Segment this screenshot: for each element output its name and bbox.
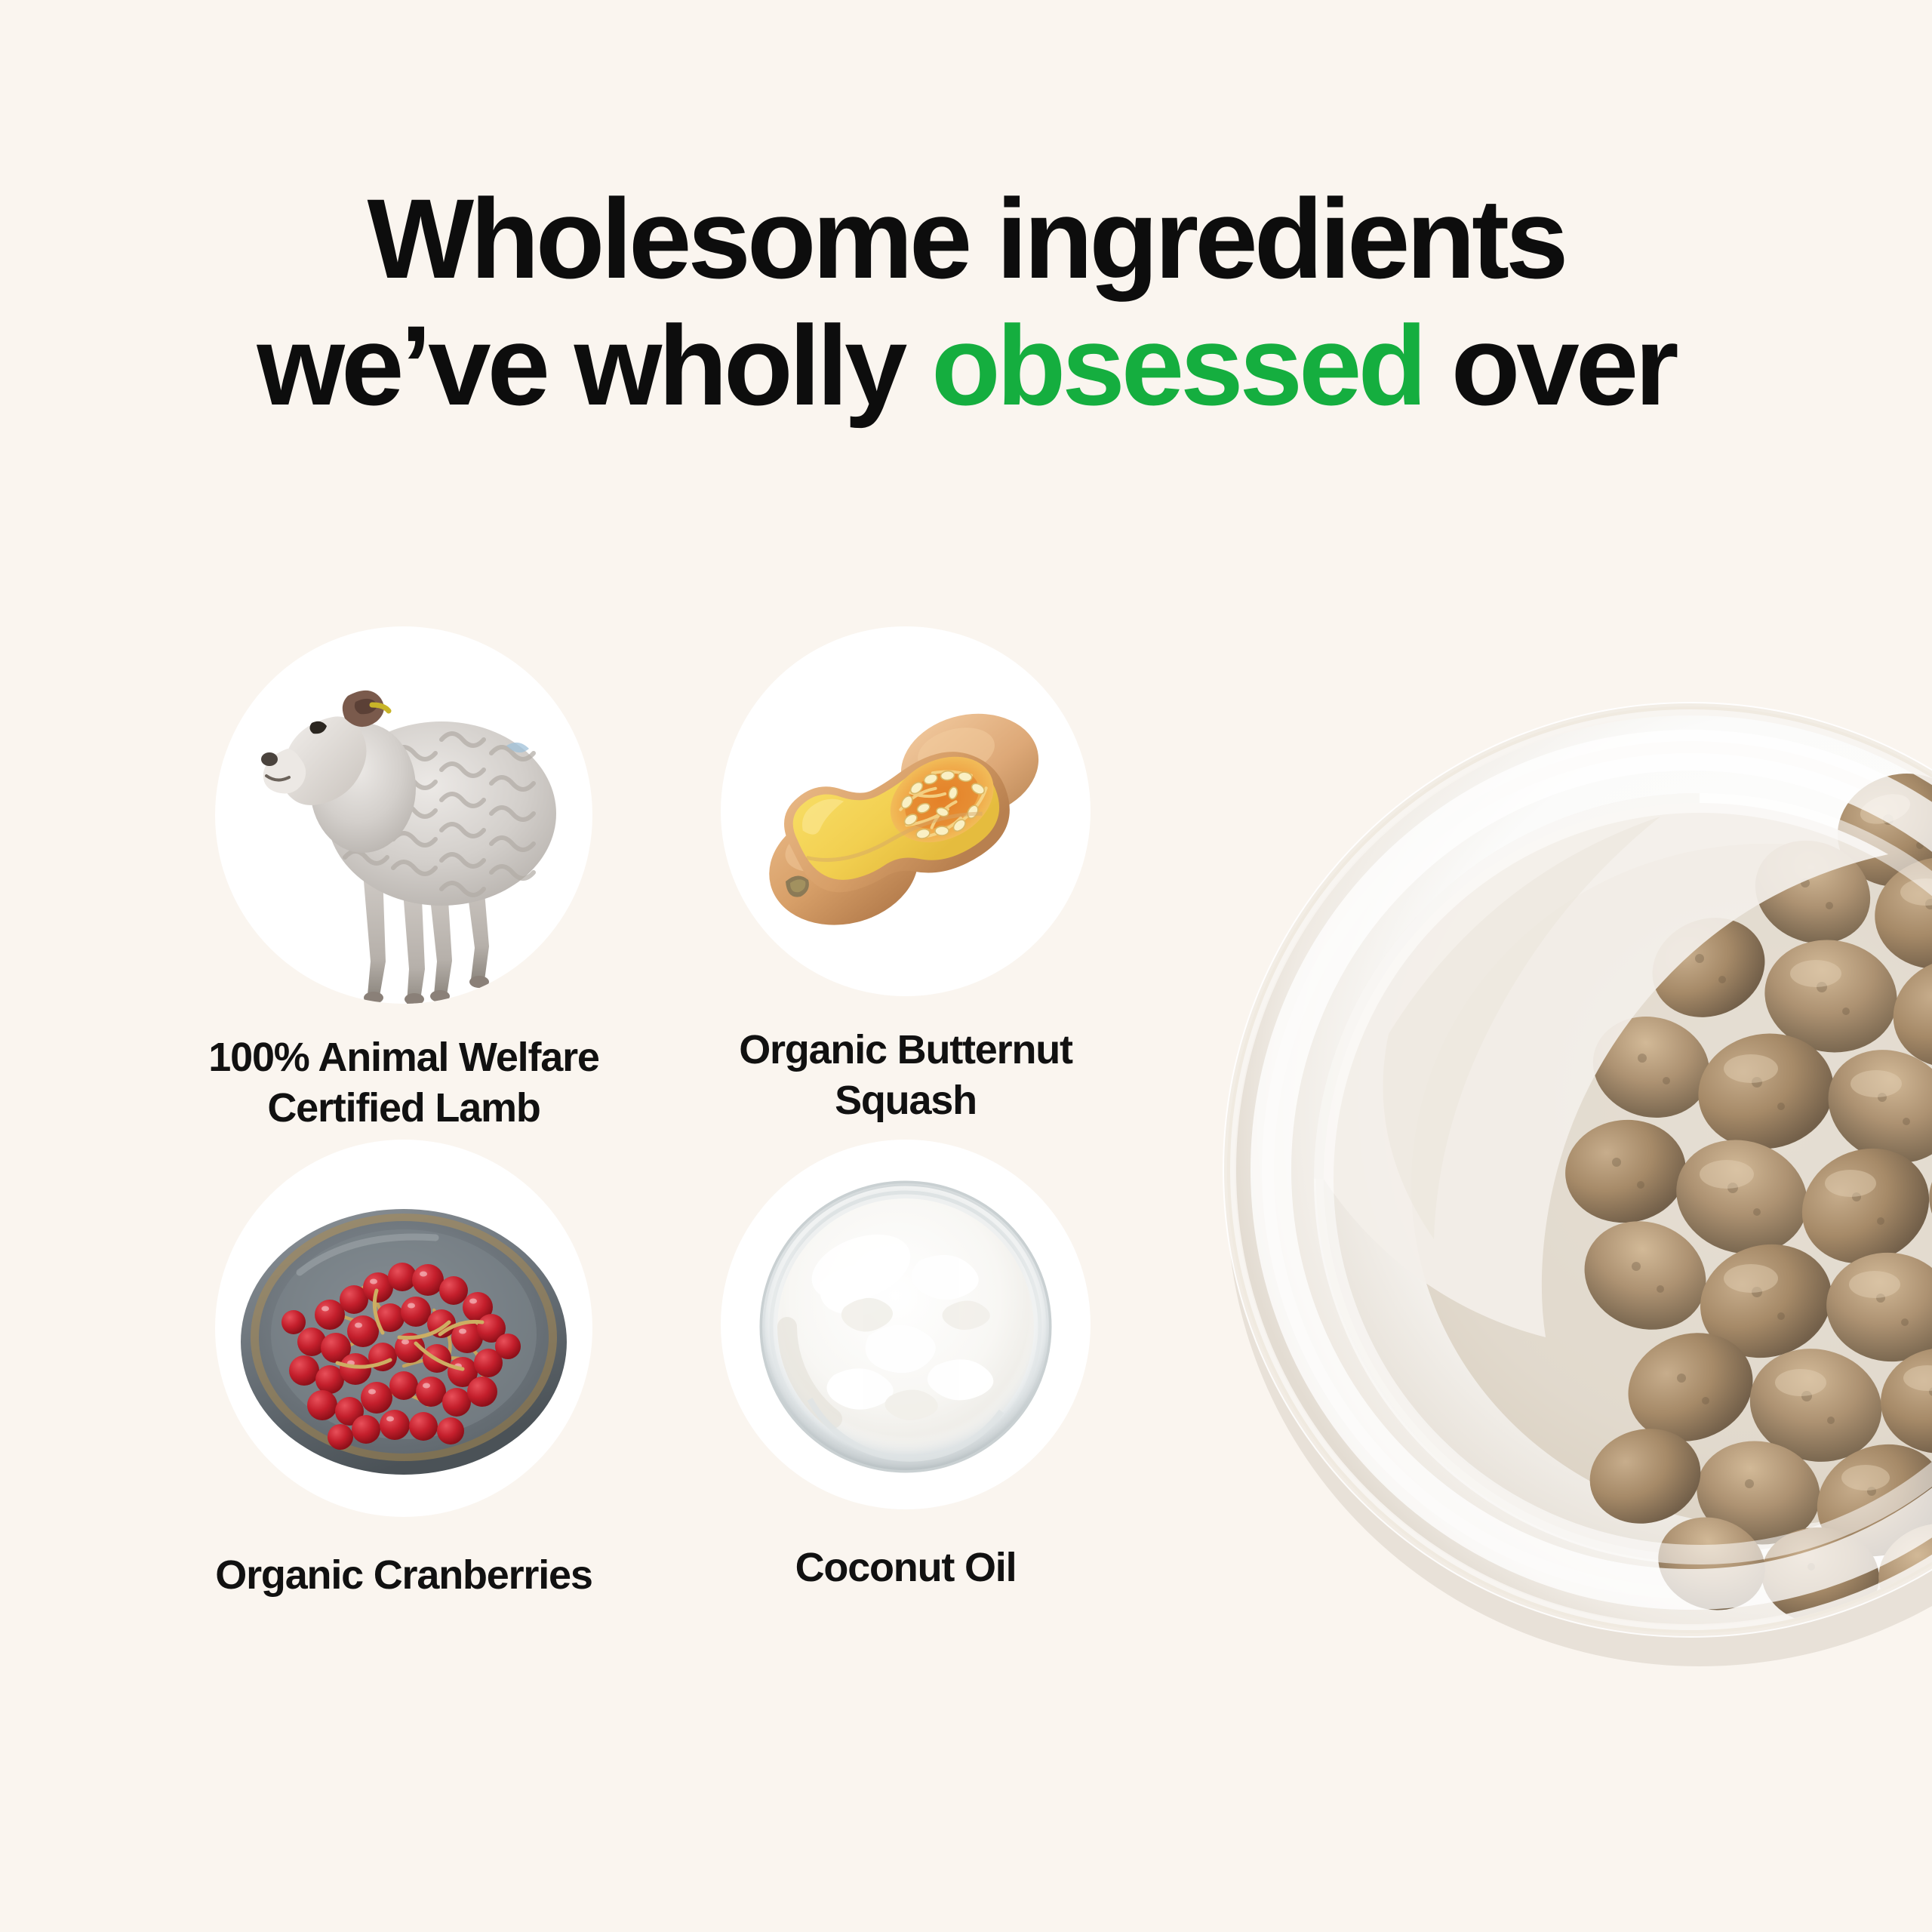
lamb-image-circle [215, 626, 592, 1004]
cranberries-image-circle [215, 1140, 592, 1517]
ingredients-row-1: 100% Animal Welfare Certified Lamb [0, 626, 1132, 943]
coconut-oil-image-circle [721, 1140, 1091, 1509]
ingredient-item-coconut-oil: Coconut Oil [672, 1140, 1140, 1593]
ingredient-item-lamb: 100% Animal Welfare Certified Lamb [170, 626, 638, 1134]
page-title: Wholesome ingredients we’ve wholly obses… [0, 175, 1932, 429]
sheep-icon [215, 626, 592, 1004]
coconut-oil-icon [721, 1140, 1091, 1509]
ingredient-label-squash: Organic Butternut Squash [672, 1025, 1140, 1126]
cranberries-icon [215, 1140, 592, 1517]
ingredient-item-squash: Organic Butternut Squash [672, 626, 1140, 1126]
ingredient-label-lamb: 100% Animal Welfare Certified Lamb [170, 1032, 638, 1134]
ingredient-label-coconut-oil: Coconut Oil [672, 1543, 1140, 1593]
ingredients-row-2: Organic Cranberries [0, 1140, 1132, 1457]
headline-line-2: we’ve wholly obsessed over [0, 302, 1932, 429]
ingredients-grid: 100% Animal Welfare Certified Lamb [0, 626, 1132, 1457]
butternut-squash-icon [721, 626, 1091, 996]
ingredient-item-cranberries: Organic Cranberries [170, 1140, 638, 1601]
promo-banner: Wholesome ingredients we’ve wholly obses… [0, 0, 1932, 1932]
headline-line-2-prefix: we’ve wholly [257, 302, 931, 429]
hero-bowl-photo [1162, 521, 1932, 1849]
bowl-of-kibble-image [1162, 521, 1932, 1849]
ingredient-label-cranberries: Organic Cranberries [170, 1550, 638, 1601]
headline-accent-word: obsessed [931, 302, 1423, 429]
headline-line-1: Wholesome ingredients [368, 175, 1565, 302]
squash-image-circle [721, 626, 1091, 996]
headline-line-2-suffix: over [1423, 302, 1675, 429]
